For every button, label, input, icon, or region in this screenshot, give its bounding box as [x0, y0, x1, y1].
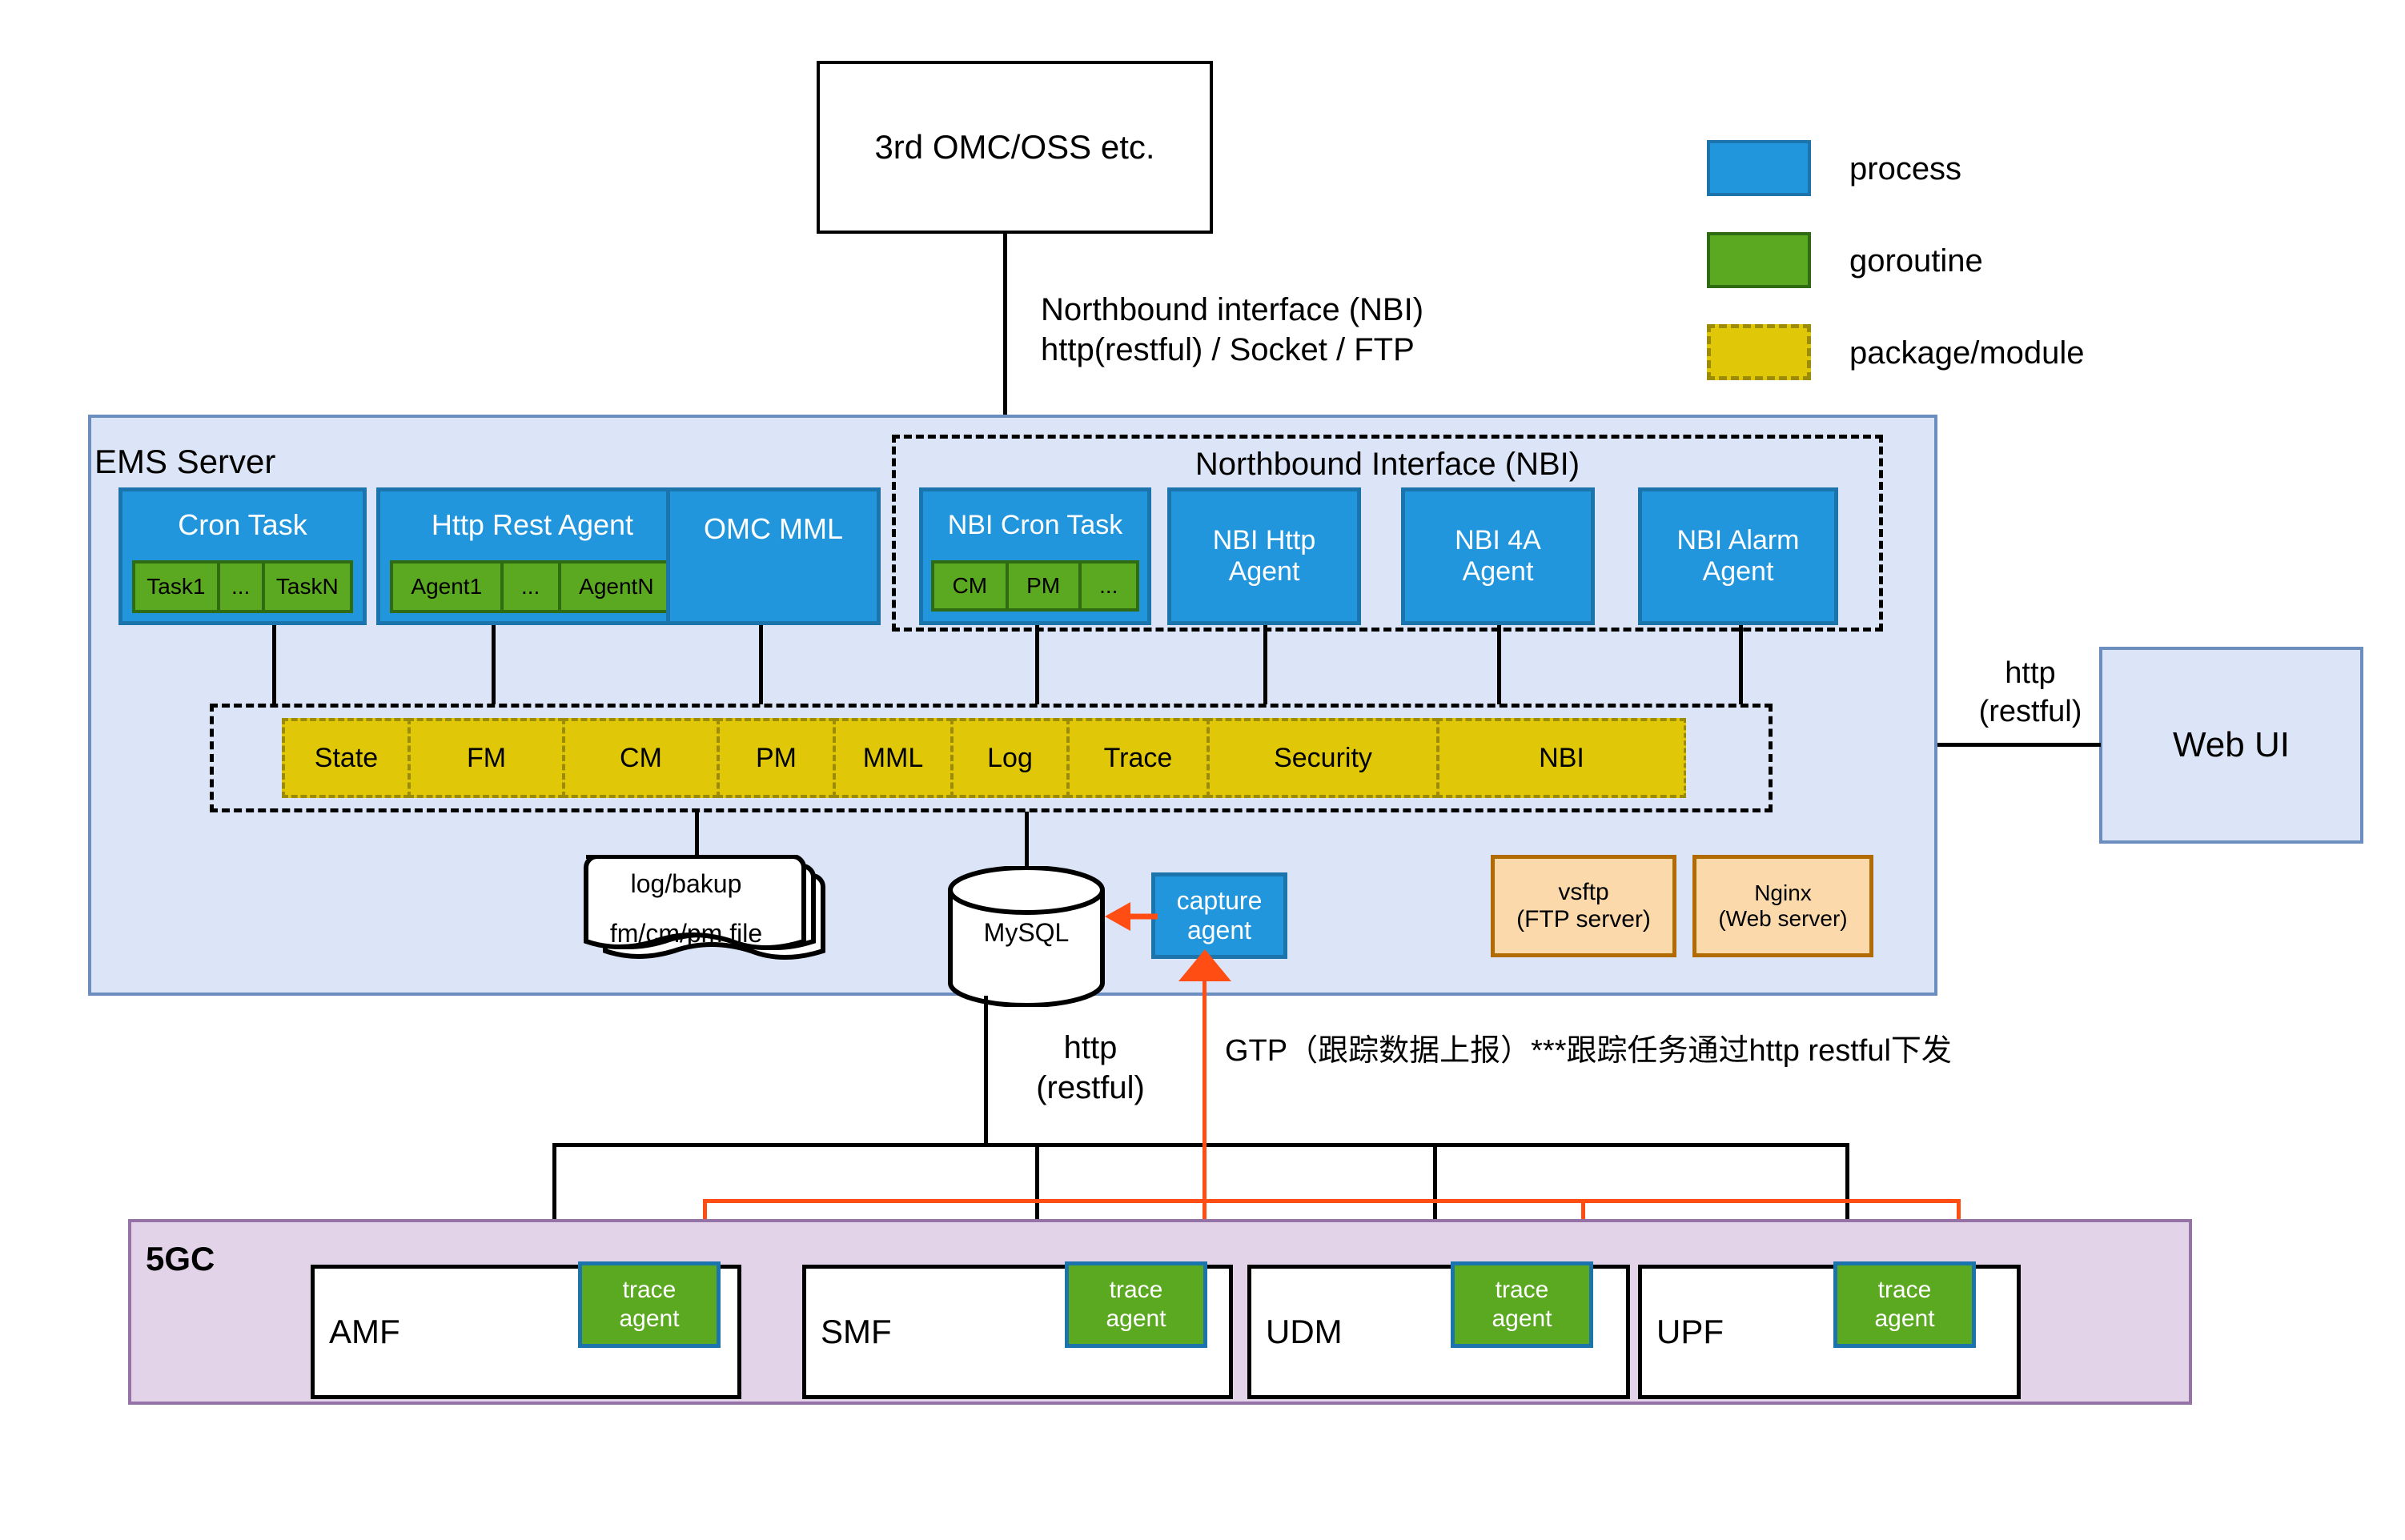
- arrow-capture-to-db: [1073, 896, 1158, 936]
- network-function-smf-label: SMF: [821, 1313, 892, 1351]
- ems-server-title: EMS Server: [94, 443, 275, 481]
- goroutine-cm[interactable]: CM: [934, 563, 1009, 608]
- file-stack-label: log/bakup fm/cm/pm file: [586, 868, 786, 949]
- southbound-http-label: http (restful): [1010, 1028, 1170, 1108]
- nbi-link-line2: http(restful) / Socket / FTP: [1041, 330, 1617, 370]
- process-capture-agent[interactable]: capture agent: [1151, 872, 1287, 959]
- southbound-bus: [552, 1143, 1849, 1147]
- web-ui-link-line2: (restful): [1950, 693, 2110, 732]
- connector-ems-to-webui: [1937, 743, 2101, 747]
- file-stack-line1: log/bakup: [586, 868, 786, 900]
- legend-swatch-package: [1707, 324, 1811, 380]
- connector-omc-mml-to-modules: [759, 625, 763, 704]
- trace-agent-amf[interactable]: trace agent: [578, 1261, 721, 1348]
- server-nginx-line2: (Web server): [1718, 906, 1847, 932]
- network-function-udm-label: UDM: [1266, 1313, 1343, 1351]
- trace-agent-smf-label: trace agent: [1106, 1276, 1166, 1333]
- module-trace[interactable]: Trace: [1066, 718, 1209, 798]
- goroutine-taskn[interactable]: TaskN: [265, 563, 350, 610]
- connector-nbi-http-to-modules: [1263, 625, 1267, 704]
- diagram-canvas: 3rd OMC/OSS etc. Northbound interface (N…: [0, 0, 2405, 1540]
- file-stack-line2: fm/cm/pm file: [586, 917, 786, 949]
- goroutine-strip-http-rest: Agent1 ... AgentN: [390, 560, 675, 613]
- connector-ems-to-5gc-trunk: [984, 996, 988, 1145]
- trace-agent-udm-label: trace agent: [1492, 1276, 1552, 1333]
- module-bar: State FM CM PM MML Log Trace Security NB…: [282, 718, 1705, 798]
- connector-nbi-cron-to-modules: [1035, 625, 1039, 704]
- connector-modules-to-files: [695, 812, 699, 860]
- nbi-link-label: Northbound interface (NBI) http(restful)…: [1041, 290, 1617, 370]
- nbi-link-line1: Northbound interface (NBI): [1041, 290, 1617, 330]
- module-cm[interactable]: CM: [562, 718, 719, 798]
- web-ui-label: Web UI: [2173, 725, 2290, 766]
- omc-oss-label: 3rd OMC/OSS etc.: [874, 128, 1154, 166]
- connector-nbi-4a-to-modules: [1497, 625, 1501, 704]
- module-security[interactable]: Security: [1207, 718, 1439, 798]
- connector-omc-to-ems: [1003, 234, 1007, 416]
- goroutine-strip-nbi-cron: CM PM ...: [931, 560, 1139, 612]
- process-http-rest-agent-label: Http Rest Agent: [380, 491, 685, 559]
- process-http-rest-agent[interactable]: Http Rest Agent Agent1 ... AgentN: [376, 487, 689, 625]
- process-nbi-4a-agent[interactable]: NBI 4A Agent: [1401, 487, 1595, 625]
- server-vsftp[interactable]: vsftp (FTP server): [1491, 855, 1676, 957]
- gc-title: 5GC: [146, 1240, 215, 1278]
- server-vsftp-line1: vsftp: [1516, 879, 1651, 907]
- trace-agent-smf[interactable]: trace agent: [1065, 1261, 1207, 1348]
- process-capture-agent-label: capture agent: [1177, 886, 1263, 945]
- process-omc-mml[interactable]: OMC MML: [666, 487, 881, 625]
- module-nbi[interactable]: NBI: [1436, 718, 1686, 798]
- module-fm[interactable]: FM: [408, 718, 564, 798]
- trace-agent-upf-label: trace agent: [1874, 1276, 1934, 1333]
- module-state[interactable]: State: [282, 718, 410, 798]
- legend-swatch-goroutine: [1707, 232, 1811, 288]
- trace-agent-upf[interactable]: trace agent: [1833, 1261, 1976, 1348]
- omc-oss-box[interactable]: 3rd OMC/OSS etc.: [817, 61, 1213, 234]
- goroutine-ellipsis-3[interactable]: ...: [1082, 563, 1136, 608]
- network-function-amf-label: AMF: [329, 1313, 400, 1351]
- connector-cron-to-modules: [272, 625, 276, 704]
- process-cron-task-label: Cron Task: [122, 491, 363, 559]
- network-function-upf-label: UPF: [1656, 1313, 1724, 1351]
- goroutine-task1[interactable]: Task1: [135, 563, 220, 610]
- gtp-note-separator: [1202, 1025, 1207, 1116]
- arrow-gtp-to-capture-agent: [1177, 949, 1233, 994]
- server-nginx-line1: Nginx: [1718, 880, 1847, 906]
- goroutine-strip-cron: Task1 ... TaskN: [132, 560, 353, 613]
- goroutine-agentn[interactable]: AgentN: [561, 563, 672, 610]
- legend-label-process: process: [1849, 142, 1961, 195]
- nbi-group-title: Northbound Interface (NBI): [892, 441, 1883, 487]
- goroutine-ellipsis[interactable]: ...: [220, 563, 265, 610]
- connector-nbi-alarm-to-modules: [1739, 625, 1743, 704]
- goroutine-agent1[interactable]: Agent1: [393, 563, 504, 610]
- module-log[interactable]: Log: [950, 718, 1069, 798]
- legend-label-package: package/module: [1849, 327, 2085, 379]
- process-nbi-alarm-agent-label: NBI Alarm Agent: [1676, 525, 1799, 588]
- process-nbi-cron-task-label: NBI Cron Task: [923, 491, 1147, 559]
- connector-modules-to-mysql: [1025, 812, 1029, 868]
- connector-http-rest-to-modules: [492, 625, 496, 704]
- process-cron-task[interactable]: Cron Task Task1 ... TaskN: [118, 487, 367, 625]
- process-nbi-http-agent-label: NBI Http Agent: [1213, 525, 1315, 588]
- gtp-note-label: GTP（跟踪数据上报）***跟踪任务通过http restful下发: [1225, 1033, 2266, 1071]
- process-nbi-cron-task[interactable]: NBI Cron Task CM PM ...: [919, 487, 1151, 625]
- module-pm[interactable]: PM: [717, 718, 835, 798]
- gtp-bus: [703, 1199, 1960, 1203]
- trace-agent-udm[interactable]: trace agent: [1451, 1261, 1593, 1348]
- goroutine-ellipsis-2[interactable]: ...: [504, 563, 561, 610]
- process-nbi-alarm-agent[interactable]: NBI Alarm Agent: [1638, 487, 1838, 625]
- legend-swatch-process: [1707, 140, 1811, 196]
- goroutine-pm[interactable]: PM: [1009, 563, 1082, 608]
- process-nbi-http-agent[interactable]: NBI Http Agent: [1167, 487, 1361, 625]
- legend-label-goroutine: goroutine: [1849, 235, 1983, 287]
- web-ui-box[interactable]: Web UI: [2099, 647, 2363, 844]
- server-nginx[interactable]: Nginx (Web server): [1692, 855, 1873, 957]
- process-omc-mml-label: OMC MML: [704, 512, 843, 545]
- trace-agent-amf-label: trace agent: [619, 1276, 679, 1333]
- module-mml[interactable]: MML: [833, 718, 953, 798]
- web-ui-link-label: http (restful): [1950, 655, 2110, 731]
- southbound-http-line1: http: [1010, 1028, 1170, 1068]
- process-nbi-4a-agent-label: NBI 4A Agent: [1455, 525, 1541, 588]
- server-vsftp-line2: (FTP server): [1516, 906, 1651, 934]
- web-ui-link-line1: http: [1950, 655, 2110, 693]
- southbound-http-line2: (restful): [1010, 1068, 1170, 1108]
